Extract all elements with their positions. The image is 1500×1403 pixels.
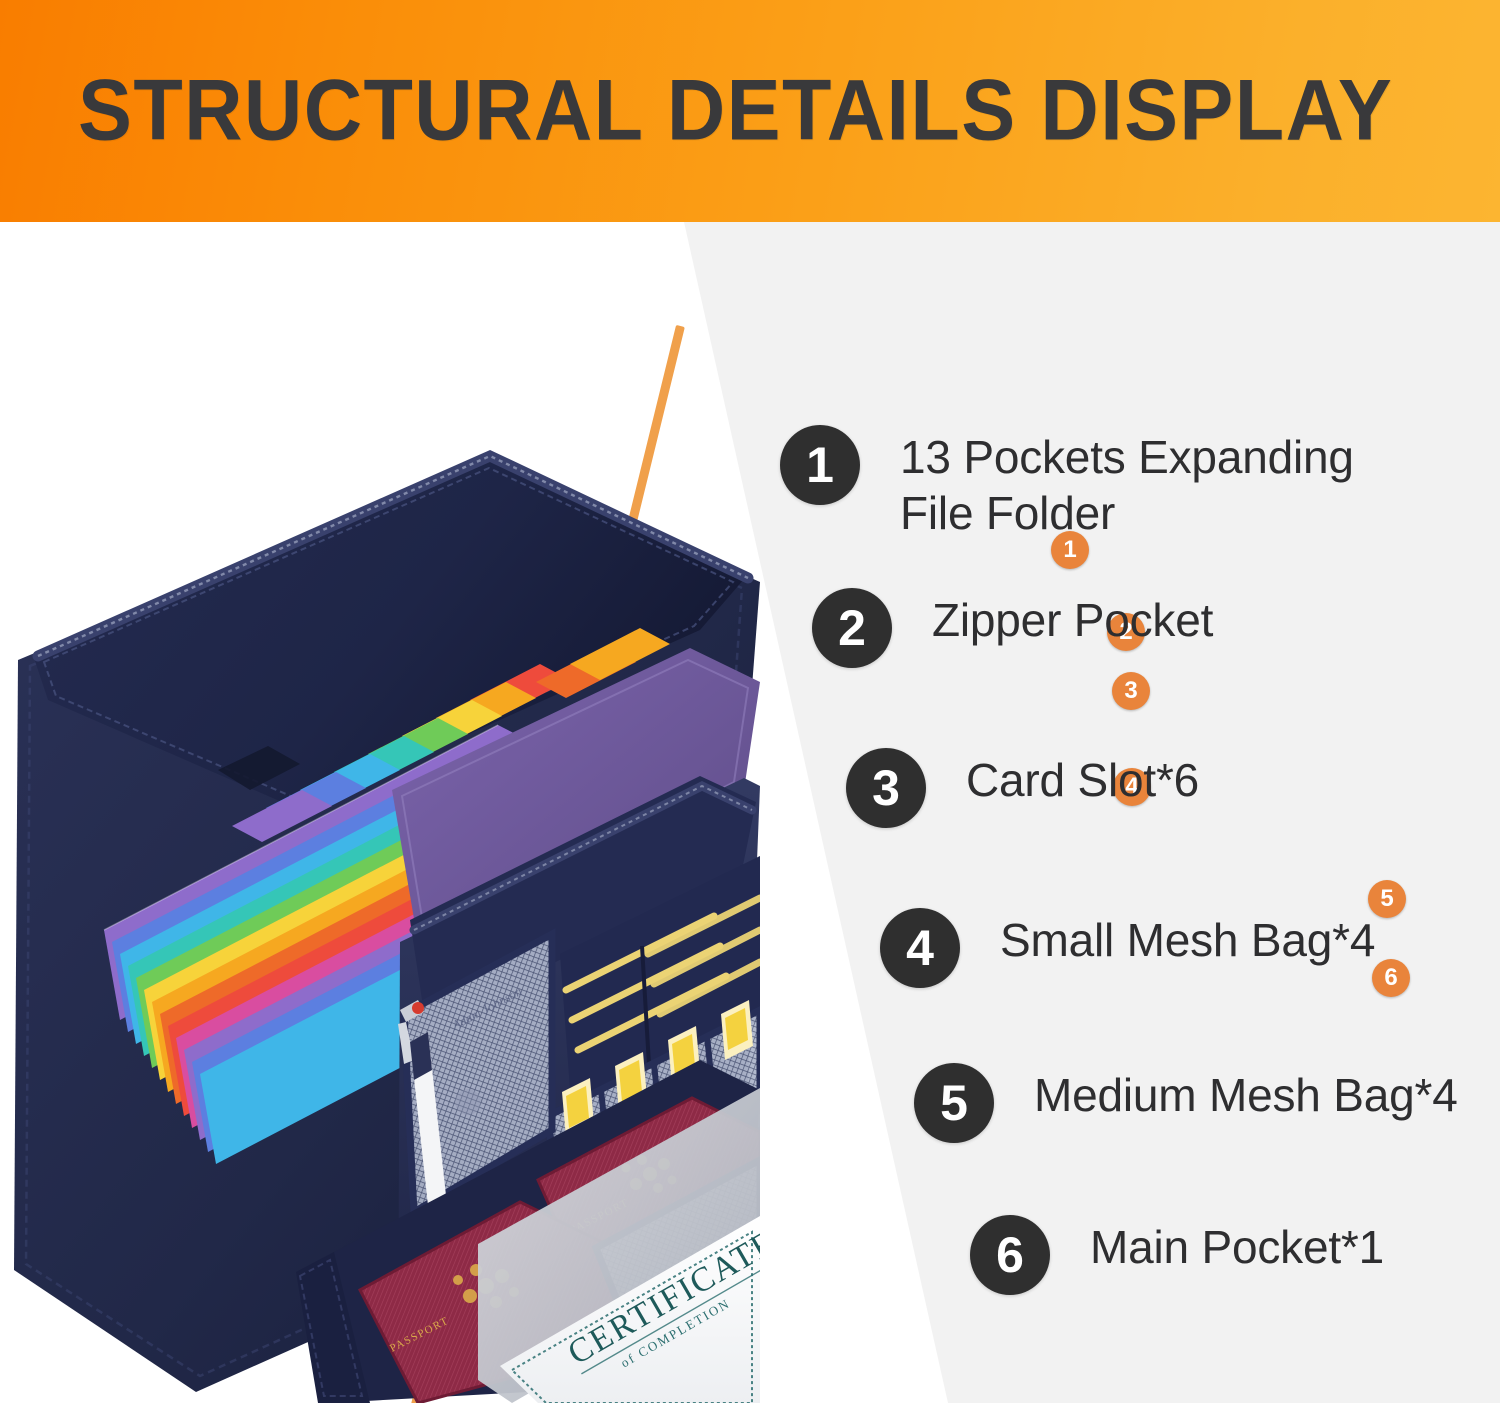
feature-label-1: 13 Pockets Expanding File Folder: [900, 425, 1354, 541]
feature-badge-4: 4: [880, 908, 960, 988]
feature-item-1: 1 13 Pockets Expanding File Folder: [780, 425, 1354, 541]
feature-item-2: 2 Zipper Pocket: [812, 588, 1213, 668]
feature-badge-5: 5: [914, 1063, 994, 1143]
feature-label-2: Zipper Pocket: [932, 588, 1213, 648]
feature-list: 1 13 Pockets Expanding File Folder 2 Zip…: [0, 0, 1500, 1403]
feature-item-3: 3 Card Slot*6: [846, 748, 1199, 828]
feature-badge-6: 6: [970, 1215, 1050, 1295]
feature-label-6: Main Pocket*1: [1090, 1215, 1384, 1275]
feature-label-4: Small Mesh Bag*4: [1000, 908, 1375, 968]
feature-item-6: 6 Main Pocket*1: [970, 1215, 1384, 1295]
feature-badge-3: 3: [846, 748, 926, 828]
feature-badge-1: 1: [780, 425, 860, 505]
feature-item-4: 4 Small Mesh Bag*4: [880, 908, 1375, 988]
feature-badge-2: 2: [812, 588, 892, 668]
feature-label-5: Medium Mesh Bag*4: [1034, 1063, 1458, 1123]
feature-item-5: 5 Medium Mesh Bag*4: [914, 1063, 1458, 1143]
feature-label-3: Card Slot*6: [966, 748, 1199, 808]
infographic-page: STRUCTURAL DETAILS DISPLAY: [0, 0, 1500, 1403]
